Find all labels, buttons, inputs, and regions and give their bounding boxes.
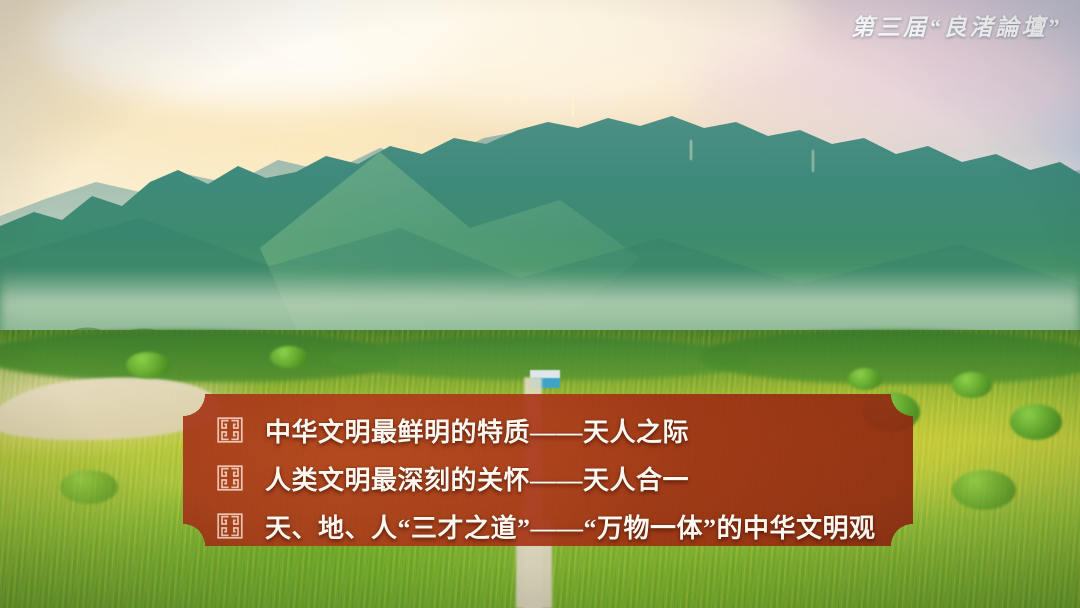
shrub	[1010, 404, 1062, 440]
banner-line-text: 中华文明最鲜明的特质——天人之际	[265, 412, 689, 449]
banner-line: 天、地、人“三才之道”——“万物一体”的中华文明观	[217, 506, 913, 546]
shrub	[60, 470, 118, 504]
banner-line: 中华文明最鲜明的特质——天人之际	[217, 410, 913, 450]
slide-canvas: 中华文明最鲜明的特质——天人之际 人类文明最深刻的关怀——天人合一	[0, 0, 1080, 608]
quote-banner: 中华文明最鲜明的特质——天人之际 人类文明最深刻的关怀——天人合一	[183, 394, 913, 546]
ridge-tower-icon	[572, 95, 574, 117]
chinese-fret-square-spiral-icon	[217, 513, 243, 539]
ridge-tower-icon	[278, 140, 280, 158]
chinese-fret-square-spiral-icon	[217, 417, 243, 443]
chinese-fret-square-spiral-icon	[217, 465, 243, 491]
ridge-tower-icon	[812, 150, 814, 172]
forum-title: 第三届“良渚論壇”	[851, 8, 1062, 42]
shrub	[126, 352, 170, 378]
ridge-tower-icon	[690, 140, 692, 160]
shrub	[952, 372, 992, 398]
shrub	[848, 368, 882, 390]
banner-line-list: 中华文明最鲜明的特质——天人之际 人类文明最深刻的关怀——天人合一	[183, 394, 913, 546]
banner-line-text: 人类文明最深刻的关怀——天人合一	[265, 460, 689, 497]
banner-line-text: 天、地、人“三才之道”——“万物一体”的中华文明观	[265, 508, 876, 545]
shrub	[270, 346, 308, 368]
hedge-band	[700, 330, 1080, 384]
banner-line: 人类文明最深刻的关怀——天人合一	[217, 458, 913, 498]
shrub	[952, 470, 1016, 510]
